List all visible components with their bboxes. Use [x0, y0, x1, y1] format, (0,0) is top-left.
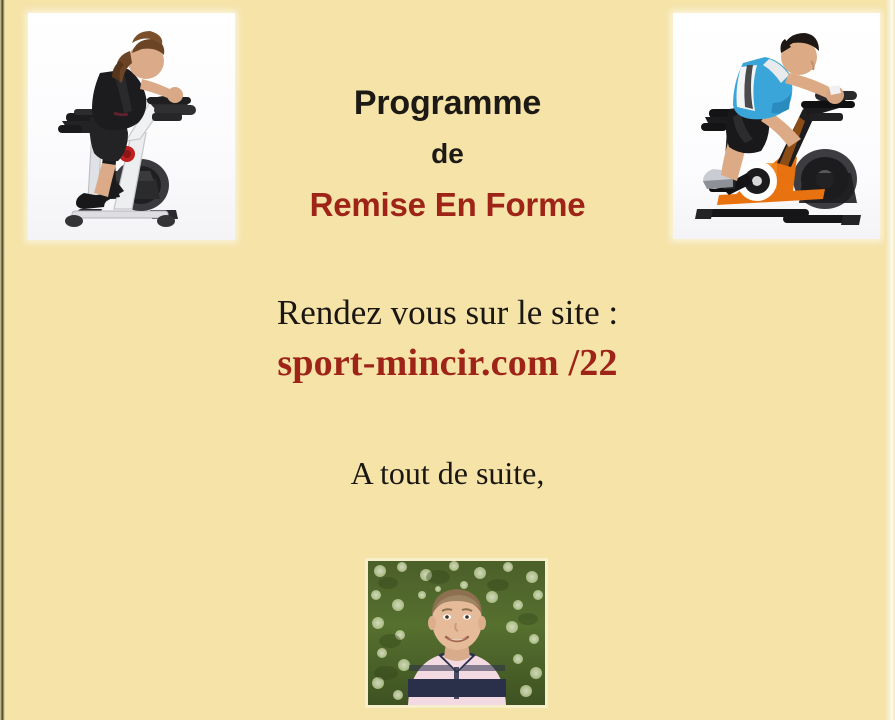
page-title-line1: Programme: [245, 83, 650, 123]
closing-text: A tout de suite,: [245, 453, 650, 493]
film-edge-left: [0, 0, 5, 720]
cta-prompt: Rendez vous sur le site :: [235, 292, 660, 334]
page-title-line3: Remise En Forme: [245, 186, 650, 224]
cta-website[interactable]: sport-mincir.com /22: [225, 340, 670, 386]
man-on-spin-bike-photo: [673, 13, 880, 239]
presenter-portrait-photo: [365, 558, 548, 708]
woman-on-spin-bike-photo: [28, 13, 235, 240]
video-slide: Programme de Remise En Forme Rendez vous…: [0, 0, 895, 720]
page-title-line2: de: [245, 138, 650, 170]
film-edge-right: [885, 0, 895, 720]
